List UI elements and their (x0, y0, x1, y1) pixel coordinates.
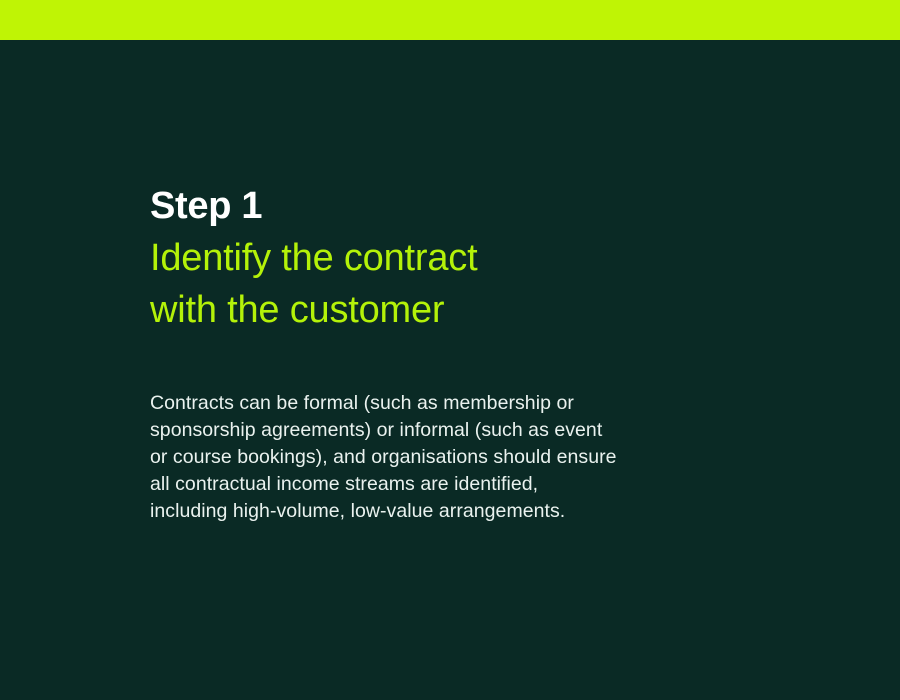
step-label: Step 1 (150, 180, 750, 232)
slide-content: Step 1 Identify the contract with the cu… (150, 180, 750, 525)
heading-line-1: Identify the contract (150, 232, 750, 284)
body-line-3: or course bookings), and organisations s… (150, 444, 730, 471)
accent-bar (0, 0, 900, 40)
slide-canvas: Step 1 Identify the contract with the cu… (0, 0, 900, 700)
body-line-1: Contracts can be formal (such as members… (150, 390, 730, 417)
body-line-4: all contractual income streams are ident… (150, 471, 730, 498)
heading-line-2: with the customer (150, 284, 750, 336)
slide-heading: Step 1 Identify the contract with the cu… (150, 180, 750, 336)
body-line-5: including high-volume, low-value arrange… (150, 498, 730, 525)
slide-body: Contracts can be formal (such as members… (150, 390, 730, 525)
body-line-2: sponsorship agreements) or informal (suc… (150, 417, 730, 444)
